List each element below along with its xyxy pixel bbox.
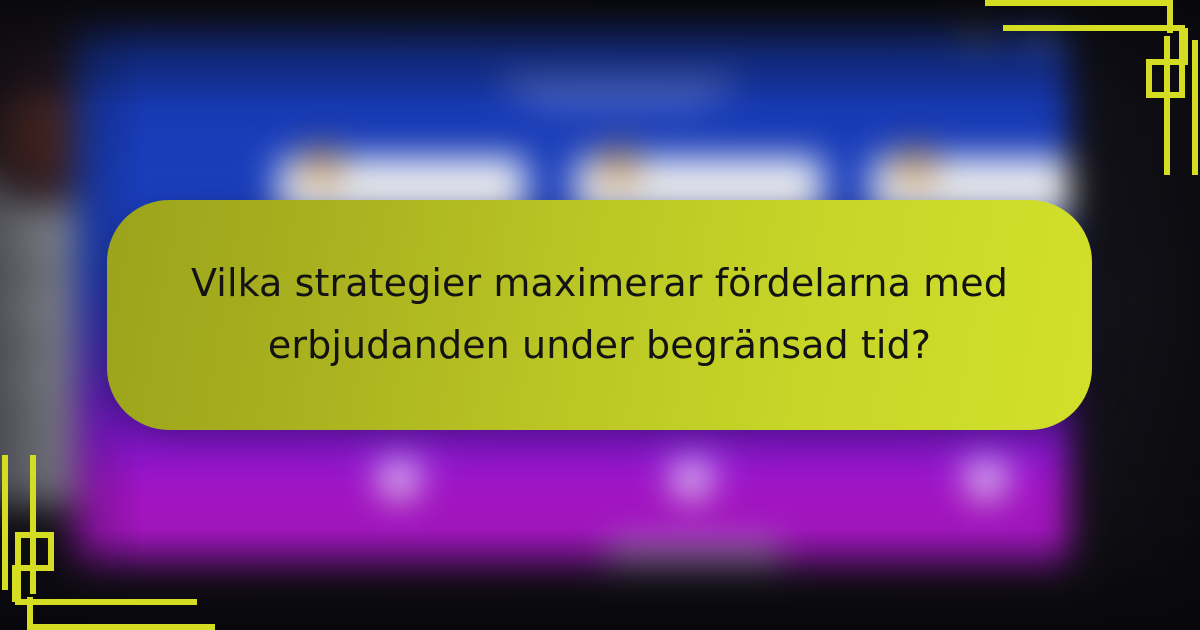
question-card: Vilka strategier maximerar fördelarna me… [0, 0, 1200, 630]
question-text: Vilka strategier maximerar fördelarna me… [107, 253, 1092, 376]
question-badge: Vilka strategier maximerar fördelarna me… [107, 200, 1092, 430]
